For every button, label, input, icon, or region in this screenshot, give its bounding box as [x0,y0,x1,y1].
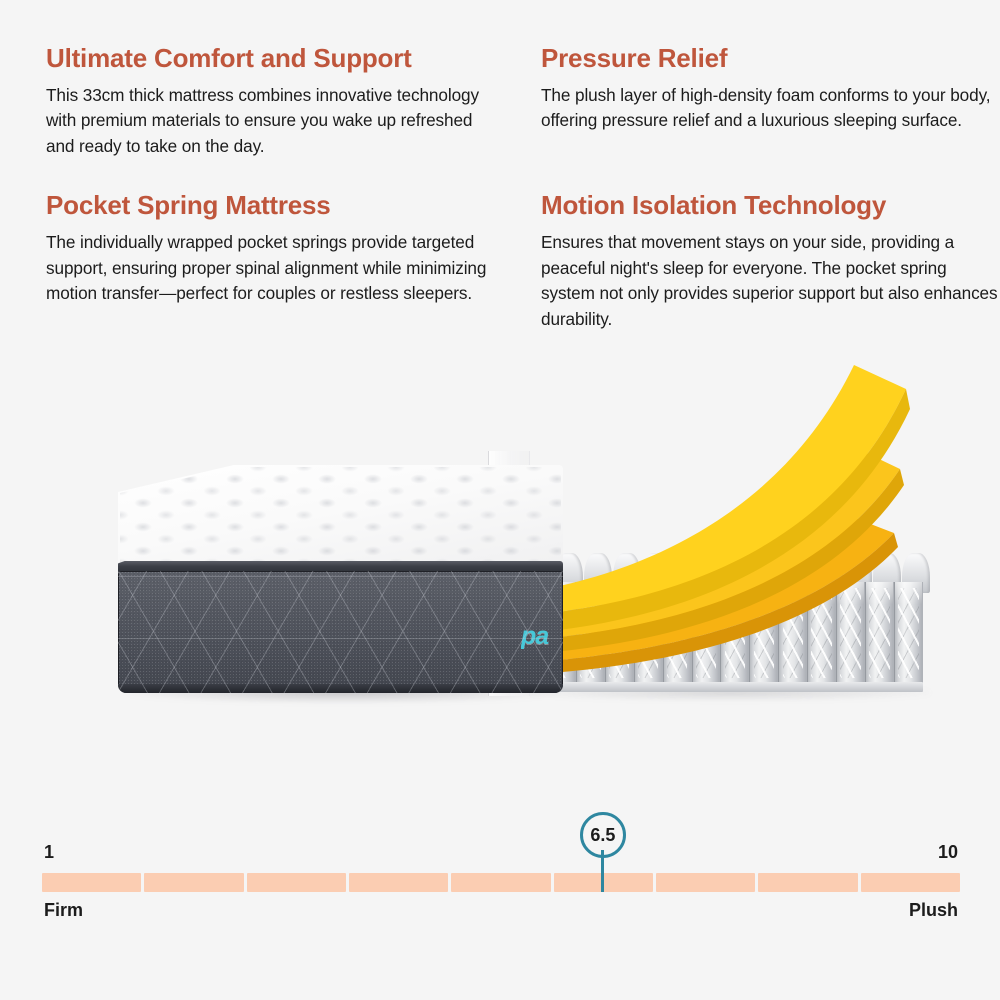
product-feature-page: Ultimate Comfort and Support This 33cm t… [0,0,1000,1000]
firmness-min-number: 1 [44,842,54,863]
feature-block-ultimate-comfort: Ultimate Comfort and Support This 33cm t… [46,44,501,159]
feature-block-pressure-relief: Pressure Relief The plush layer of high-… [541,44,1000,159]
mattress-quilted-top [118,465,563,569]
firmness-scale: 1 10 6.5 Firm Plush [0,820,1000,940]
feature-title: Pressure Relief [541,44,1000,74]
mattress-cutaway-illustration: pa [90,355,920,745]
feature-title: Motion Isolation Technology [541,191,1000,221]
firmness-max-number: 10 [938,842,958,863]
spring-unit-base [518,682,923,692]
firmness-bar-segment[interactable] [42,873,141,892]
brand-logo: pa [521,624,555,649]
feature-body: The individually wrapped pocket springs … [46,230,501,306]
feature-block-pocket-spring: Pocket Spring Mattress The individually … [46,191,501,332]
firmness-bar-segment[interactable] [247,873,346,892]
mattress-body: pa [118,465,563,693]
firmness-bar-segment[interactable] [349,873,448,892]
mattress-side-panel: pa [118,571,563,693]
firmness-marker-stem [601,850,604,892]
feature-title: Pocket Spring Mattress [46,191,501,221]
feature-title: Ultimate Comfort and Support [46,44,501,74]
mattress-bottom-piping [118,684,563,693]
feature-body: This 33cm thick mattress combines innova… [46,83,501,159]
firmness-bar[interactable] [42,873,960,892]
firmness-bar-segment[interactable] [144,873,243,892]
firmness-label-firm: Firm [44,900,83,921]
firmness-bar-segment[interactable] [451,873,550,892]
firmness-bar-segment[interactable] [758,873,857,892]
feature-body: The plush layer of high-density foam con… [541,83,1000,134]
feature-grid: Ultimate Comfort and Support This 33cm t… [0,0,1000,332]
firmness-scale-inner: 1 10 6.5 Firm Plush [42,820,960,940]
firmness-label-plush: Plush [909,900,958,921]
product-image: pa [0,355,1000,755]
firmness-bar-segment[interactable] [656,873,755,892]
firmness-bar-segment[interactable] [861,873,960,892]
